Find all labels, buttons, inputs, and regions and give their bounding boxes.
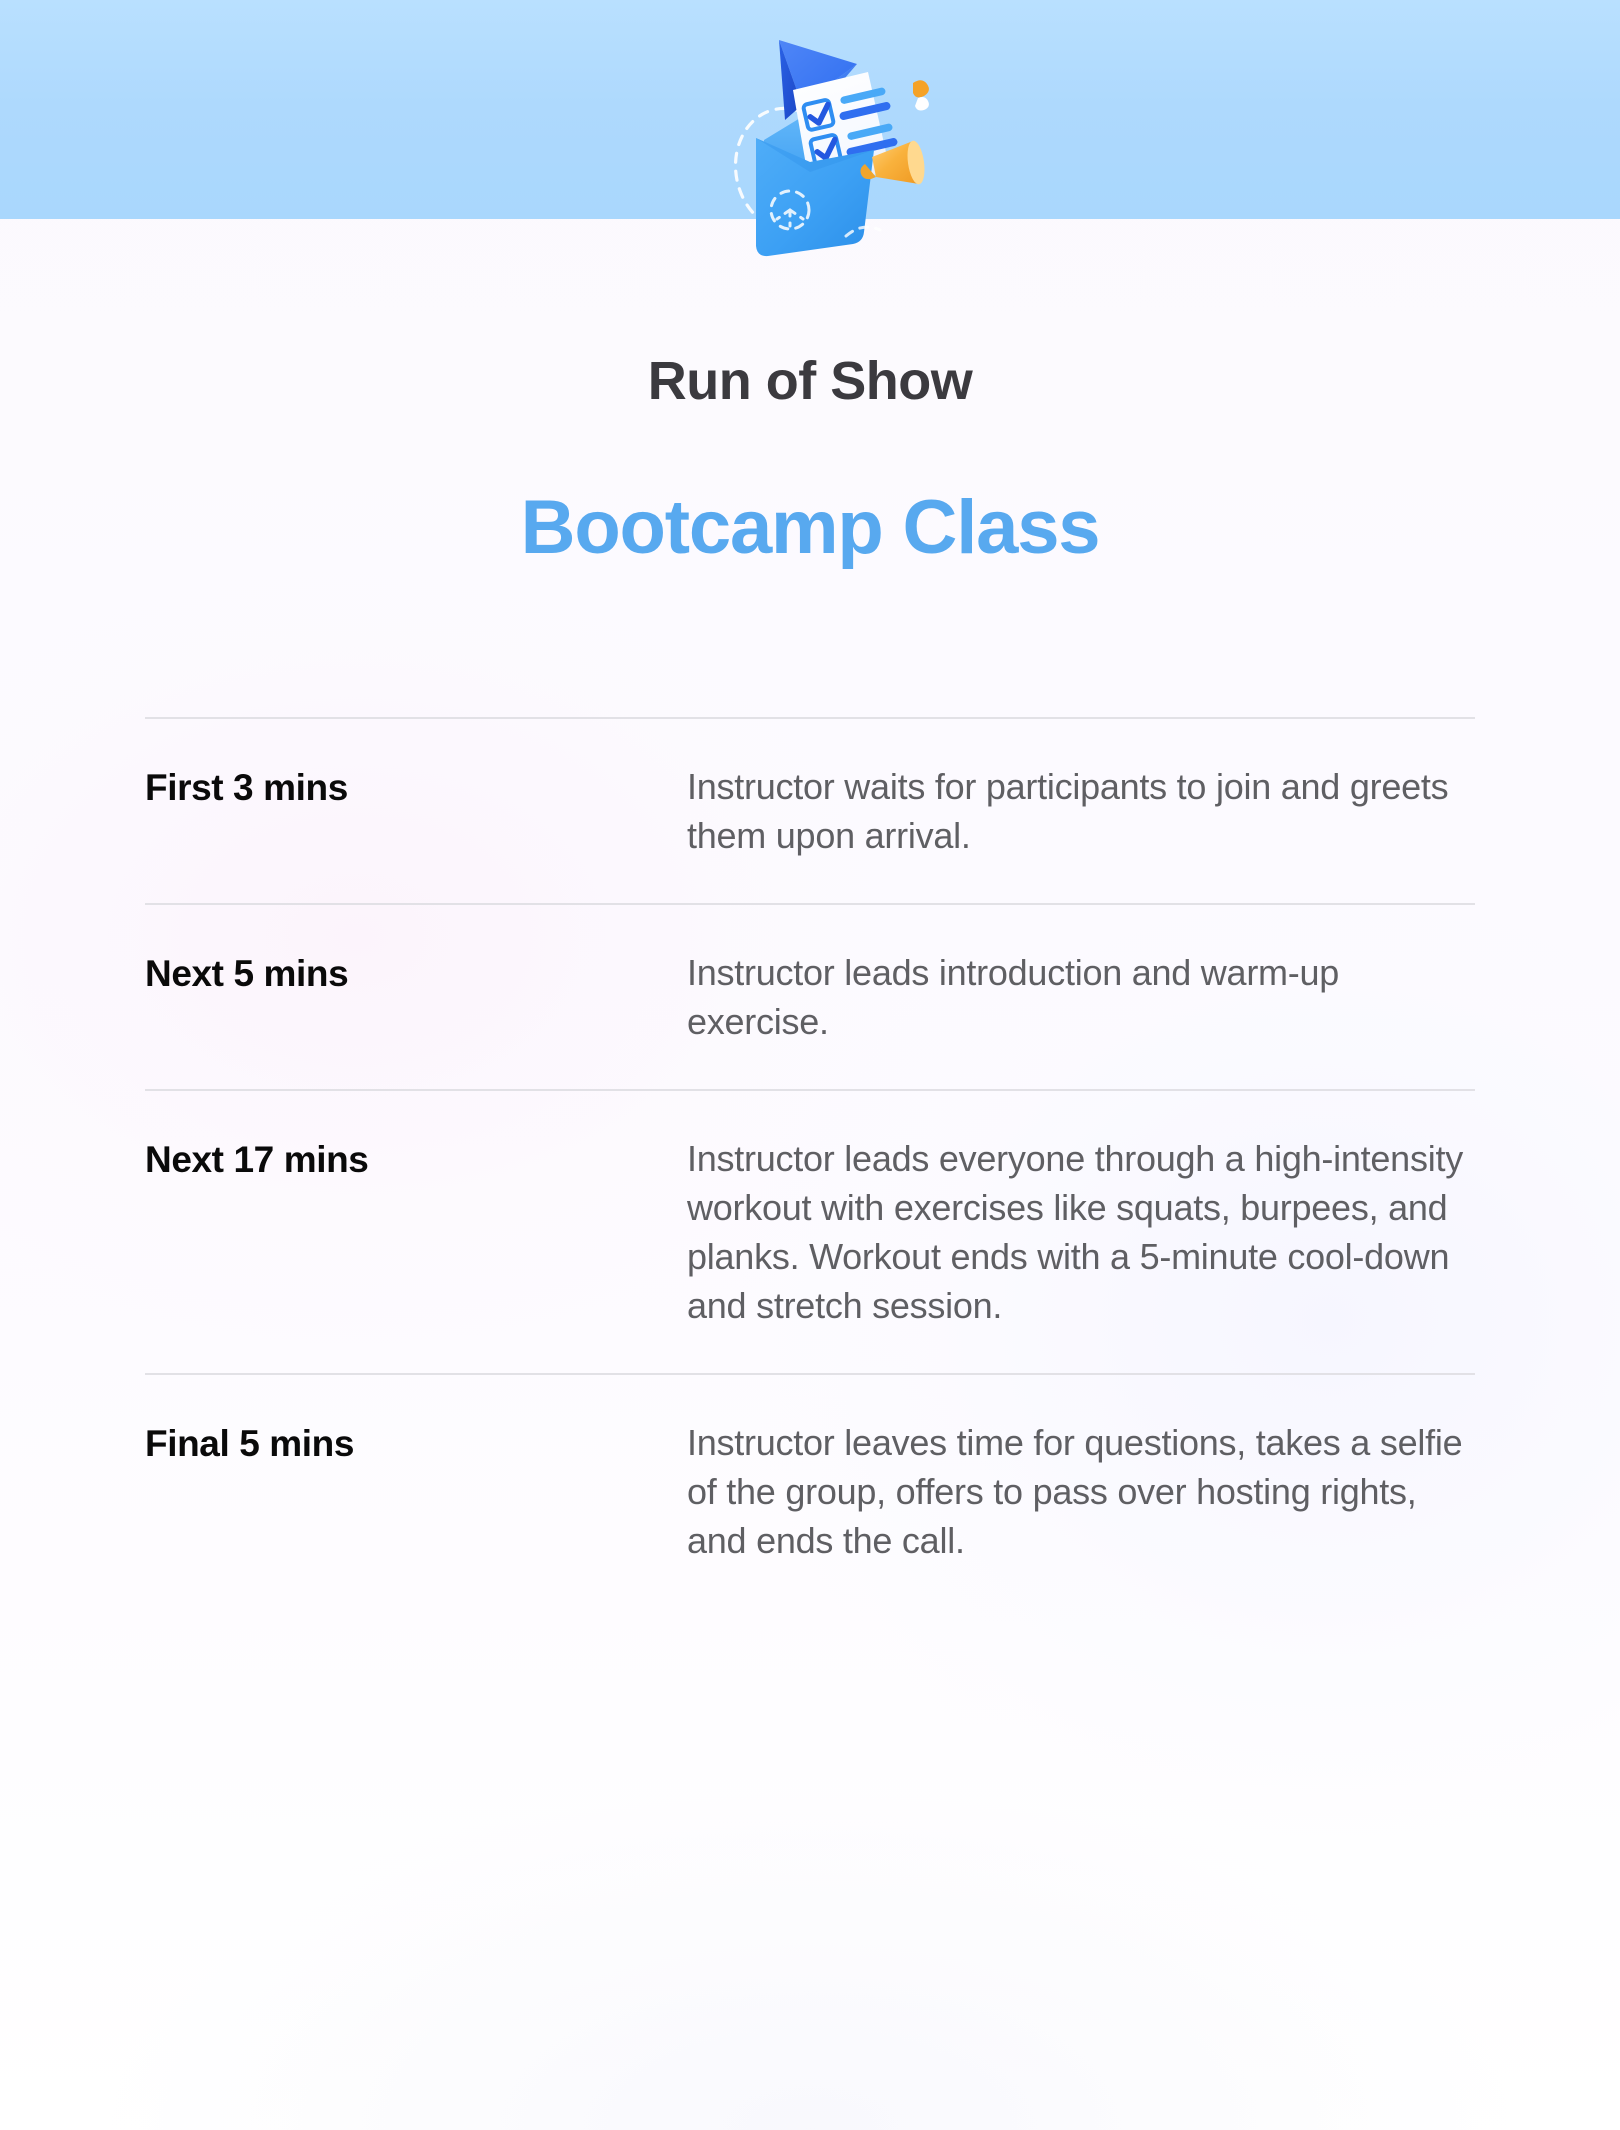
- schedule-row: First 3 mins Instructor waits for partic…: [145, 717, 1475, 903]
- schedule-row: Final 5 mins Instructor leaves time for …: [145, 1373, 1475, 1566]
- schedule-row-time: Next 17 mins: [145, 1135, 687, 1183]
- page-title: Bootcamp Class: [0, 490, 1620, 566]
- schedule-row-description: Instructor leads everyone through a high…: [687, 1135, 1475, 1331]
- schedule-row: Next 17 mins Instructor leads everyone t…: [145, 1089, 1475, 1373]
- schedule-row-time: Next 5 mins: [145, 949, 687, 997]
- schedule-row: Next 5 mins Instructor leads introductio…: [145, 903, 1475, 1089]
- schedule-row-description: Instructor leads introduction and warm-u…: [687, 949, 1475, 1047]
- run-of-show-schedule: First 3 mins Instructor waits for partic…: [145, 717, 1475, 1565]
- schedule-row-description: Instructor waits for participants to joi…: [687, 763, 1475, 861]
- schedule-row-description: Instructor leaves time for questions, ta…: [687, 1419, 1475, 1566]
- run-of-show-page: Run of Show Bootcamp Class First 3 mins …: [0, 0, 1620, 2130]
- dashed-arc-icon: [846, 227, 880, 236]
- schedule-row-time: First 3 mins: [145, 763, 687, 811]
- header-band: [0, 0, 1620, 219]
- schedule-row-time: Final 5 mins: [145, 1419, 687, 1467]
- page-kicker-title: Run of Show: [0, 354, 1620, 408]
